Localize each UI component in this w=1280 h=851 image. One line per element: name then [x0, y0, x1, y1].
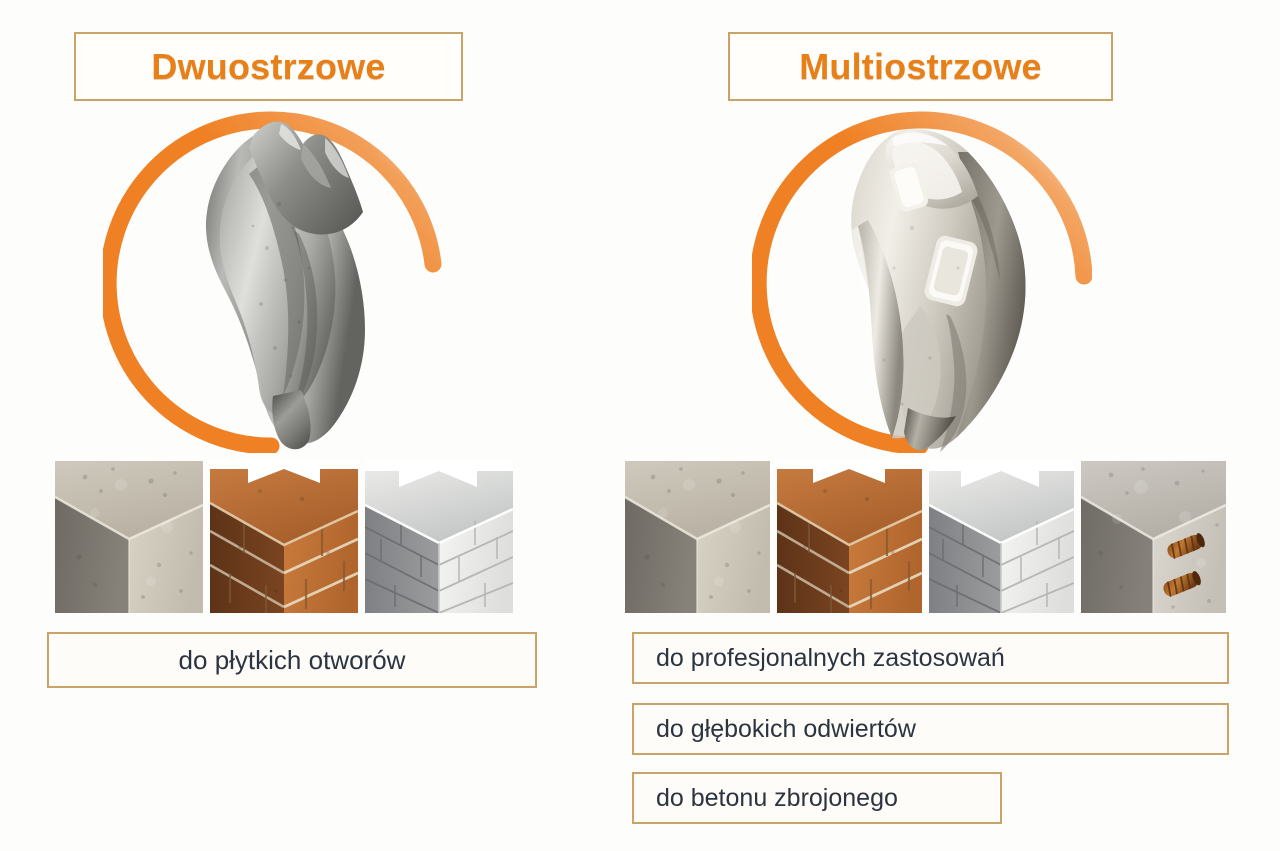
caption-label: do betonu zbrojonego	[656, 784, 898, 813]
caption-box-shallow-holes: do płytkich otworów	[47, 632, 537, 688]
title-label-multiostrzowe: Multiostrzowe	[799, 46, 1042, 88]
caption-box-deep-holes: do głębokich odwiertów	[632, 703, 1229, 755]
multi-cutter-masonry-drill-bit-icon	[752, 108, 1092, 453]
aerated-block-corner-swatch	[365, 461, 513, 613]
caption-box-professional-use: do profesjonalnych zastosowań	[632, 632, 1229, 684]
brick-corner-swatch	[210, 461, 358, 613]
concrete-corner-swatch	[625, 461, 770, 613]
title-box-dwuostrzowe: Dwuostrzowe	[74, 32, 463, 101]
brick-corner-swatch	[777, 461, 922, 613]
caption-box-reinforced-concrete: do betonu zbrojonego	[632, 772, 1002, 824]
concrete-corner-swatch	[55, 461, 203, 613]
column-multiostrzowe: Multiostrzowe	[600, 0, 1280, 851]
material-swatch-row-left	[55, 461, 513, 613]
caption-label: do głębokich odwiertów	[656, 715, 916, 744]
title-box-multiostrzowe: Multiostrzowe	[728, 32, 1113, 101]
infographic-root: Dwuostrzowe	[0, 0, 1280, 851]
reinforced-concrete-corner-swatch	[1081, 461, 1226, 613]
caption-label: do profesjonalnych zastosowań	[656, 644, 1005, 673]
column-dwuostrzowe: Dwuostrzowe	[0, 0, 600, 851]
aerated-block-corner-swatch	[929, 461, 1074, 613]
caption-label: do płytkich otworów	[179, 645, 406, 676]
hero-dwuostrzowe	[103, 108, 443, 453]
two-flute-masonry-drill-bit-icon	[103, 108, 443, 453]
material-swatch-row-right	[625, 461, 1226, 613]
title-label-dwuostrzowe: Dwuostrzowe	[151, 46, 385, 88]
hero-multiostrzowe	[752, 108, 1092, 453]
